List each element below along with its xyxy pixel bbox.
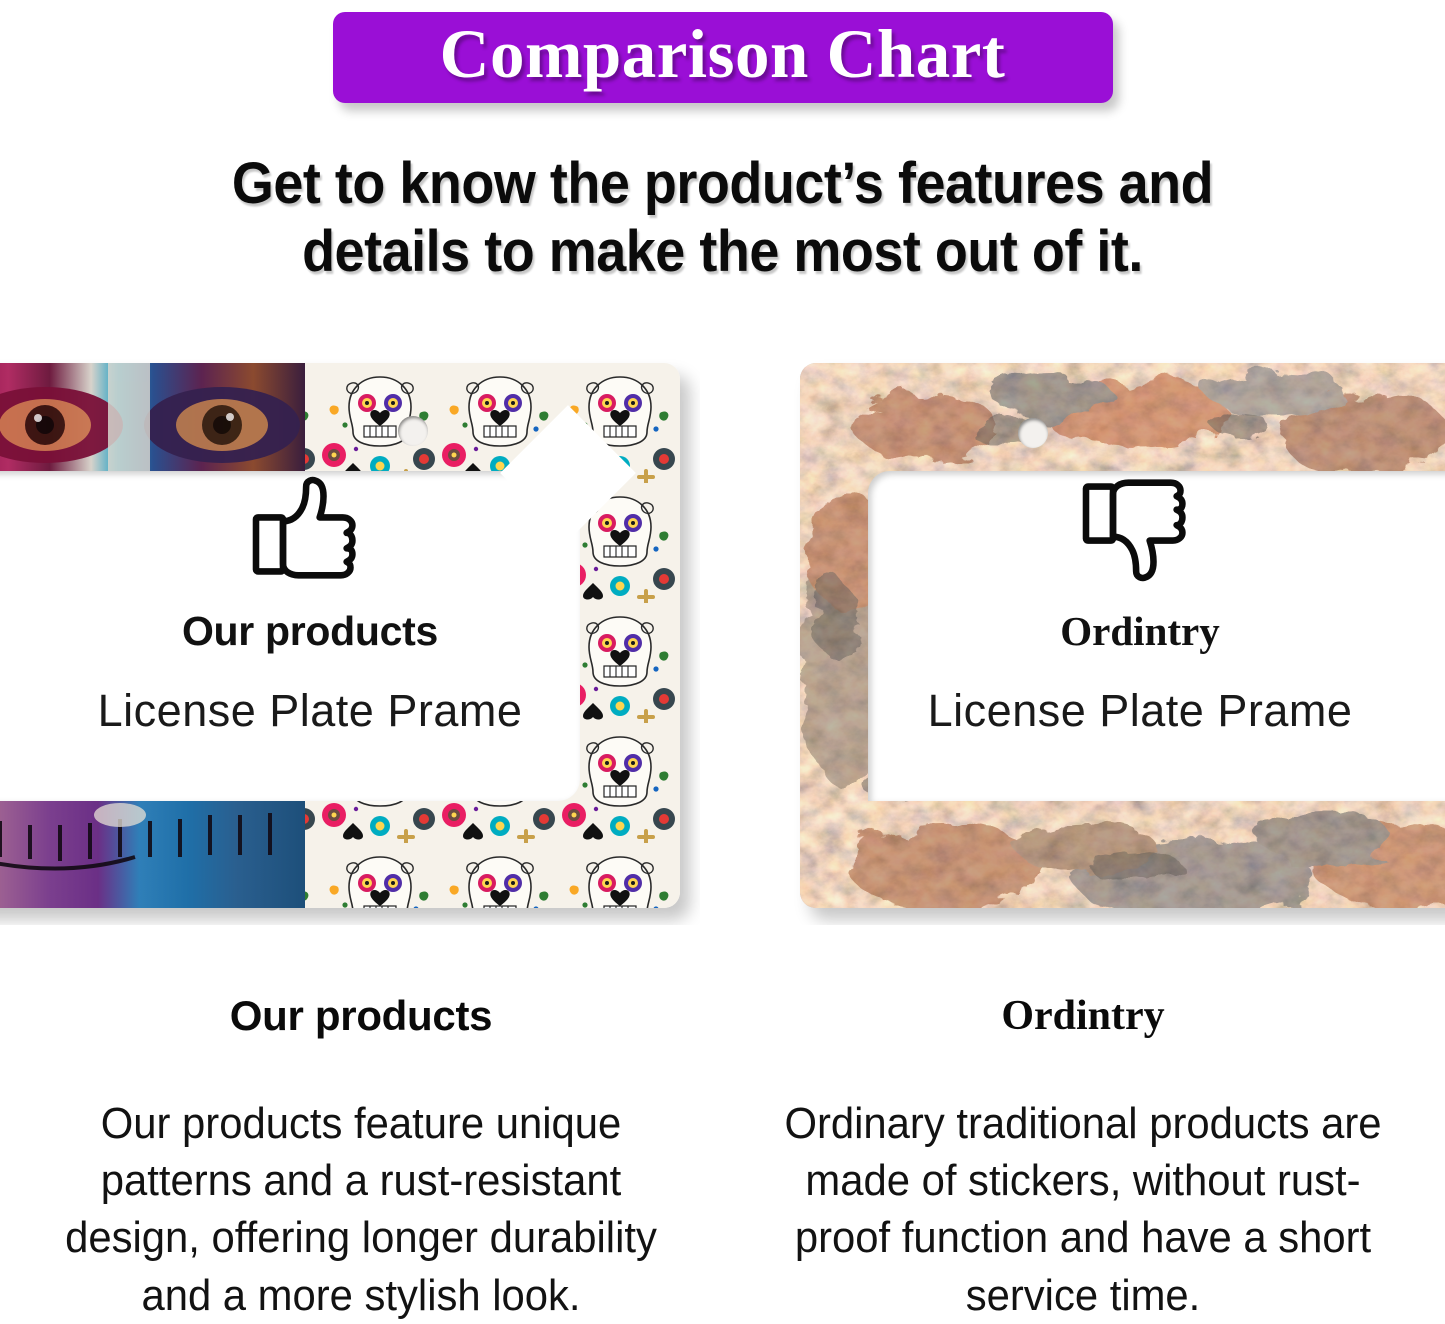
- comparison-chart-banner: Comparison Chart: [333, 12, 1113, 103]
- comparison-columns: Our products Our products feature unique…: [0, 995, 1445, 1314]
- title-banner-container: Comparison Chart: [0, 12, 1445, 120]
- thumbs-up-icon: [245, 475, 375, 583]
- ordinary-product-heading: Ordintry: [758, 995, 1408, 1037]
- subtitle: Get to know the product’s features and d…: [51, 150, 1395, 287]
- ordinary-product-column: Ordintry Ordinary traditional products a…: [722, 995, 1444, 1314]
- our-product-column: Our products Our products feature unique…: [0, 995, 722, 1314]
- our-product-description: Our products feature unique patterns and…: [52, 1095, 670, 1324]
- subtitle-line-1: Get to know the product’s features and: [51, 150, 1395, 218]
- ordinary-product-plate-subtitle: License Plate Prame: [790, 688, 1445, 733]
- thumbs-down-icon: [1075, 475, 1205, 583]
- ordinary-product-overlay: Ordintry License Plate Prame: [790, 475, 1445, 733]
- ordinary-product-description: Ordinary traditional products are made o…: [774, 1095, 1392, 1324]
- mounting-hole: [398, 416, 428, 446]
- our-product-overlay: Our products License Plate Prame: [0, 475, 660, 733]
- our-product-plate-title: Our products: [0, 611, 660, 652]
- our-product-heading: Our products: [36, 995, 686, 1037]
- product-images-band: Our products License Plate Prame Ordintr…: [0, 355, 1445, 925]
- subtitle-line-2: details to make the most out of it.: [51, 218, 1395, 286]
- ordinary-product-plate-title: Ordintry: [790, 611, 1445, 652]
- mounting-hole: [1018, 418, 1048, 448]
- our-product-plate-subtitle: License Plate Prame: [0, 688, 660, 733]
- page-title: Comparison Chart: [440, 18, 1006, 91]
